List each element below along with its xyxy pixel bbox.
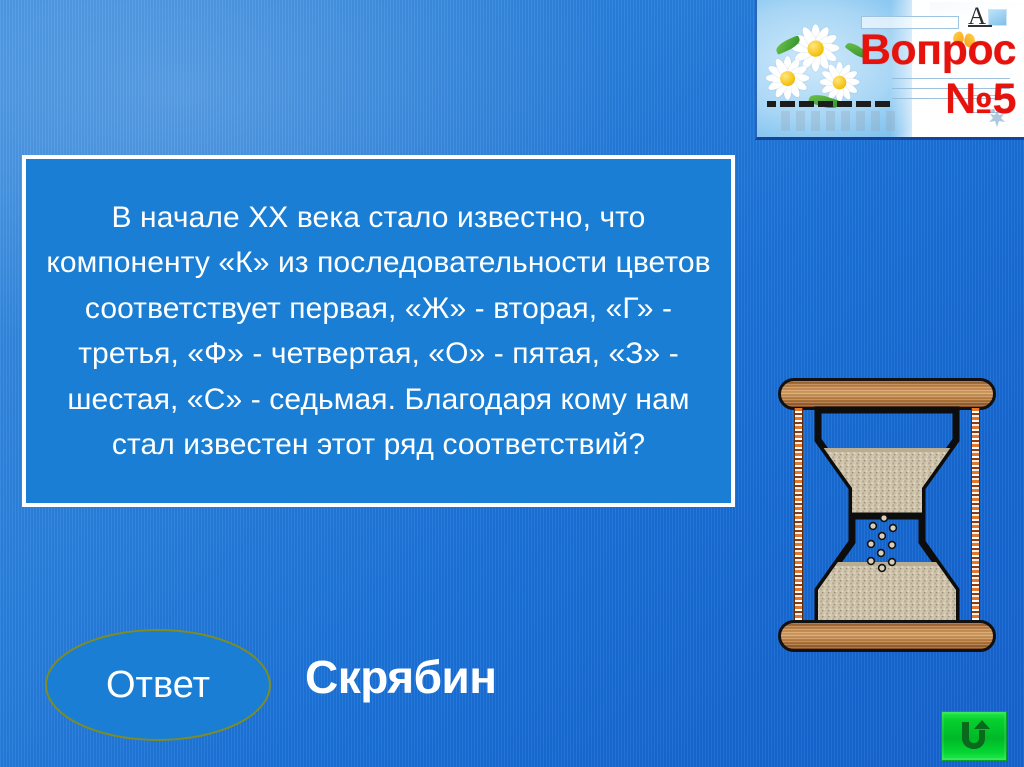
hourglass-illustration bbox=[772, 378, 1002, 652]
question-text: В начале XX века стало известно, что ком… bbox=[42, 195, 715, 468]
return-button[interactable] bbox=[941, 711, 1007, 761]
question-number: №5 bbox=[806, 75, 1016, 124]
envelope-daisies-image: A Вопрос №5 bbox=[755, 0, 1024, 140]
daisy-flower bbox=[764, 55, 810, 101]
question-number-title: Вопрос №5 bbox=[806, 26, 1016, 124]
u-turn-arrow-icon bbox=[957, 720, 991, 752]
hourglass-bottom-cap bbox=[778, 620, 996, 652]
answer-button[interactable]: Ответ bbox=[45, 629, 271, 741]
question-label: Вопрос bbox=[806, 26, 1016, 75]
answer-value: Скрябин bbox=[305, 650, 497, 704]
stamp-thumbnail bbox=[988, 9, 1007, 26]
hourglass-glass-body bbox=[772, 378, 1002, 652]
question-box: В начале XX века стало известно, что ком… bbox=[22, 155, 735, 507]
answer-button-label: Ответ bbox=[106, 664, 210, 707]
slide-canvas: A Вопрос №5 В начале XX века стало извес… bbox=[0, 0, 1024, 767]
